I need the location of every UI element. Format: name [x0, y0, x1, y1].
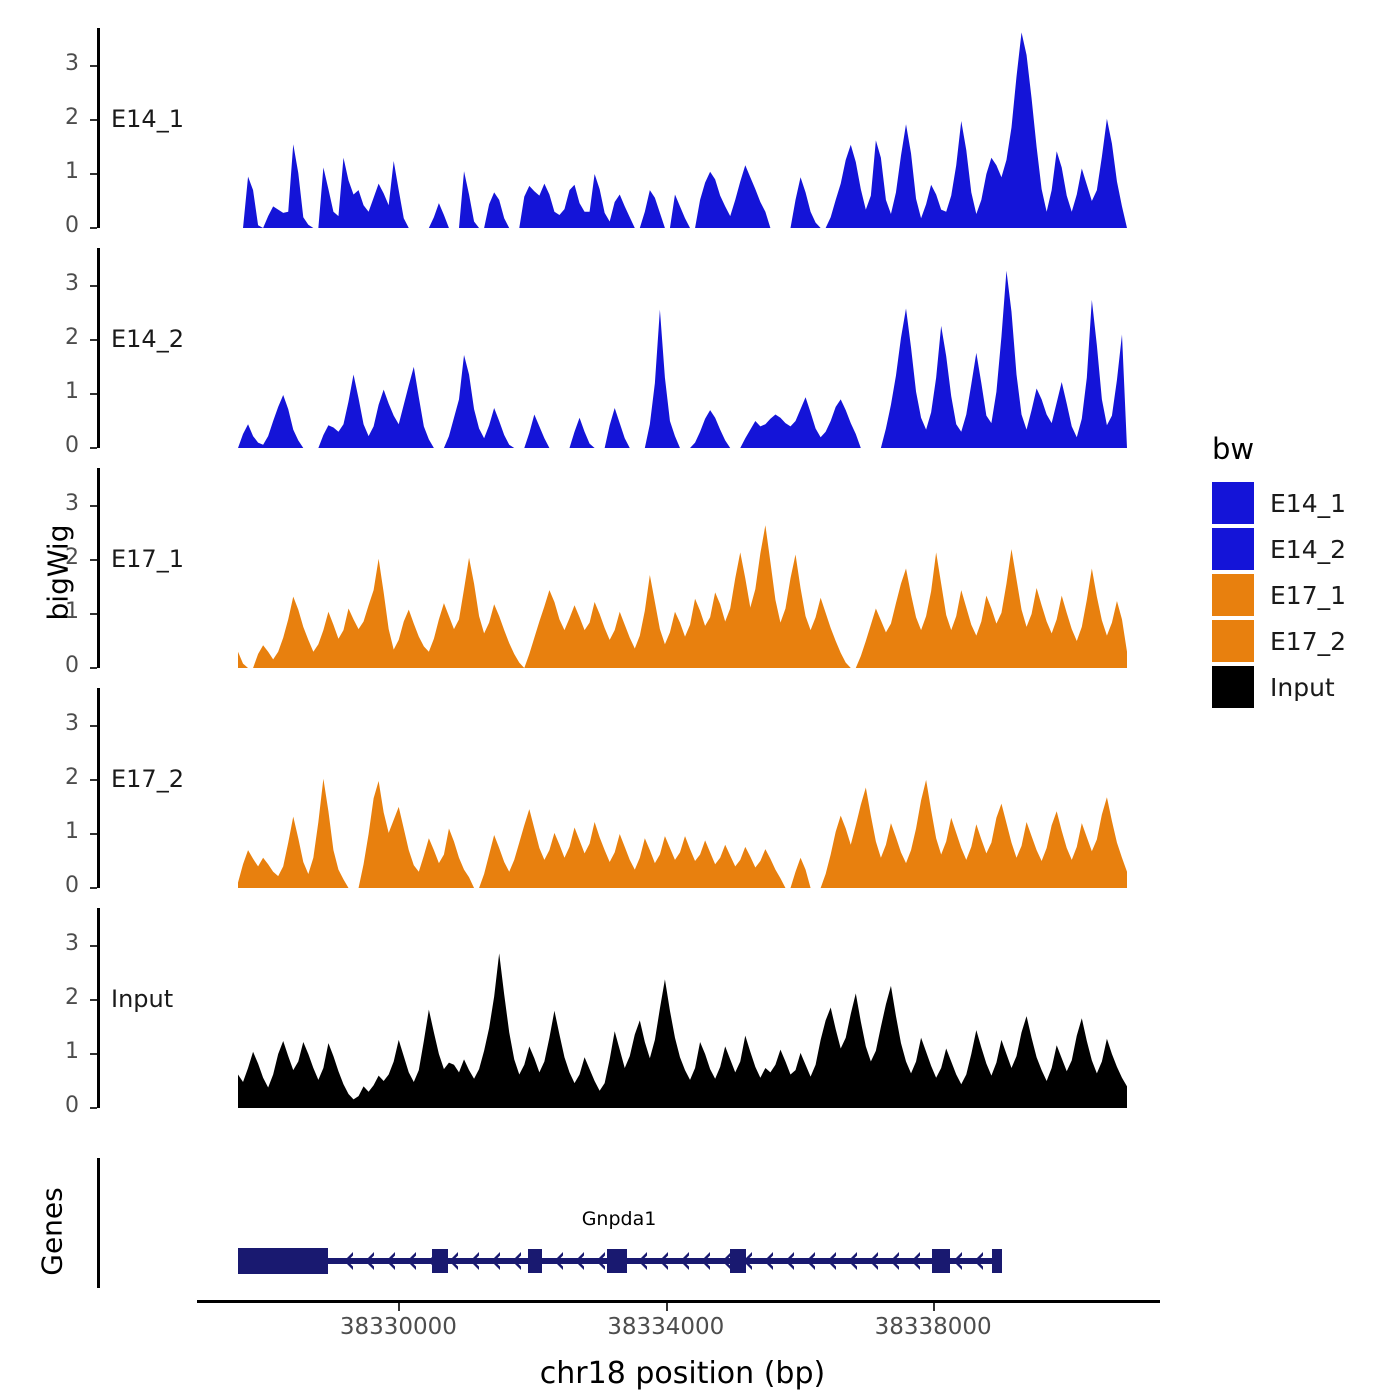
y-axis-tick-label: 1 — [39, 379, 79, 404]
y-axis-tick — [90, 393, 97, 395]
y-axis-line — [97, 28, 100, 228]
y-axis-tick — [90, 227, 97, 229]
track-label-input: Input — [111, 985, 173, 1013]
y-axis-tick — [90, 1107, 97, 1109]
signal-track-input — [238, 908, 1127, 1108]
legend: bw E14_1E14_2E17_1E17_2Input — [1212, 432, 1346, 710]
y-axis-tick — [90, 173, 97, 175]
signal-track-e14_1 — [238, 28, 1127, 228]
y-axis-tick-label: 3 — [39, 491, 79, 516]
track-label-e17_2: E17_2 — [111, 765, 184, 793]
legend-key-swatch — [1212, 620, 1254, 662]
legend-item-e14_2[interactable]: E14_2 — [1212, 526, 1346, 572]
legend-item-e14_1[interactable]: E14_1 — [1212, 480, 1346, 526]
y-axis-tick — [90, 65, 97, 67]
x-axis-tick-label: 38330000 — [298, 1314, 498, 1340]
legend-item-label: E17_2 — [1270, 627, 1346, 656]
x-axis-tick-label: 38334000 — [566, 1314, 766, 1340]
x-axis-title: chr18 position (bp) — [183, 1356, 1183, 1391]
y-axis-tick — [90, 119, 97, 121]
y-axis-tick — [90, 833, 97, 835]
legend-items: E14_1E14_2E17_1E17_2Input — [1212, 480, 1346, 710]
x-axis-tick — [933, 1303, 935, 1311]
legend-item-label: Input — [1270, 673, 1335, 702]
legend-item-label: E14_2 — [1270, 535, 1346, 564]
y-axis-tick — [90, 613, 97, 615]
x-axis-line — [197, 1300, 1160, 1303]
y-axis-tick — [90, 779, 97, 781]
y-axis-tick-label: 1 — [39, 159, 79, 184]
y-axis-tick — [90, 505, 97, 507]
y-axis-tick-label: 0 — [39, 653, 79, 678]
y-axis-tick — [90, 725, 97, 727]
y-axis-tick-label: 1 — [39, 1039, 79, 1064]
track-label-e17_1: E17_1 — [111, 545, 184, 573]
y-axis-line — [97, 248, 100, 448]
gene-name-label: Gnpda1 — [469, 1208, 769, 1230]
y-axis-tick — [90, 945, 97, 947]
y-axis-tick-label: 3 — [39, 51, 79, 76]
y-axis-title-bigwig: bigWig — [42, 493, 75, 653]
x-axis-tick — [398, 1303, 400, 1311]
y-axis-tick-label: 2 — [39, 985, 79, 1010]
y-axis-tick-label: 0 — [39, 873, 79, 898]
y-axis-tick — [90, 887, 97, 889]
y-axis-line — [97, 468, 100, 668]
y-axis-tick-label: 2 — [39, 545, 79, 570]
y-axis-tick — [90, 447, 97, 449]
y-axis-tick — [90, 999, 97, 1001]
y-axis-tick — [90, 339, 97, 341]
legend-item-label: E17_1 — [1270, 581, 1346, 610]
y-axis-tick-label: 0 — [39, 433, 79, 458]
y-axis-tick-label: 0 — [39, 1093, 79, 1118]
y-axis-line — [97, 908, 100, 1108]
signal-track-e14_2 — [238, 248, 1127, 448]
x-axis-tick-label: 38338000 — [833, 1314, 1033, 1340]
legend-key-swatch — [1212, 482, 1254, 524]
legend-title: bw — [1212, 432, 1346, 466]
signal-track-e17_1 — [238, 468, 1127, 668]
signal-track-e17_2 — [238, 688, 1127, 888]
y-axis-tick — [90, 285, 97, 287]
track-label-e14_2: E14_2 — [111, 325, 184, 353]
y-axis-tick-label: 3 — [39, 271, 79, 296]
y-axis-tick — [90, 667, 97, 669]
y-axis-tick-label: 3 — [39, 931, 79, 956]
y-axis-tick-label: 2 — [39, 325, 79, 350]
y-axis-tick-label: 3 — [39, 711, 79, 736]
legend-item-e17_1[interactable]: E17_1 — [1212, 572, 1346, 618]
legend-key-swatch — [1212, 666, 1254, 708]
track-label-e14_1: E14_1 — [111, 105, 184, 133]
y-axis-tick-label: 2 — [39, 105, 79, 130]
y-axis-tick — [90, 1053, 97, 1055]
legend-item-e17_2[interactable]: E17_2 — [1212, 618, 1346, 664]
y-axis-line — [97, 688, 100, 888]
legend-item-label: E14_1 — [1270, 489, 1346, 518]
legend-key-swatch — [1212, 528, 1254, 570]
y-axis-tick-label: 1 — [39, 599, 79, 624]
legend-key-swatch — [1212, 574, 1254, 616]
legend-item-input[interactable]: Input — [1212, 664, 1346, 710]
y-axis-tick — [90, 559, 97, 561]
y-axis-tick-label: 0 — [39, 213, 79, 238]
y-axis-tick-label: 2 — [39, 765, 79, 790]
x-axis-tick — [666, 1303, 668, 1311]
y-axis-tick-label: 1 — [39, 819, 79, 844]
